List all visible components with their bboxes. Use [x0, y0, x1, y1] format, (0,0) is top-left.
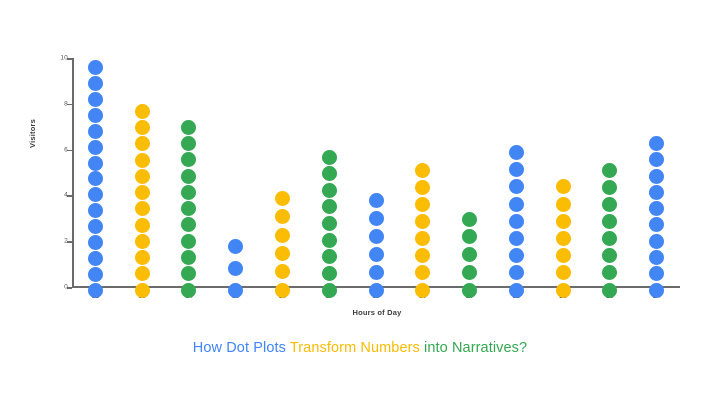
dot-marker [649, 169, 664, 184]
dot-marker [509, 179, 524, 194]
dot-marker [88, 140, 103, 155]
dot-marker [462, 229, 477, 244]
dot-marker [135, 266, 150, 281]
dot-marker [322, 199, 337, 214]
dot-marker [88, 203, 103, 218]
dot-marker [602, 197, 617, 212]
dot-marker [181, 169, 196, 184]
dot-marker [135, 218, 150, 233]
dot-marker [88, 60, 103, 75]
dot-marker [322, 233, 337, 248]
y-axis-title: Visitors [28, 119, 37, 148]
dot-marker [556, 283, 571, 298]
dot-marker [322, 183, 337, 198]
dot-marker [556, 248, 571, 263]
dot-marker [649, 185, 664, 200]
dot-marker [181, 234, 196, 249]
dot-marker [509, 231, 524, 246]
dot-marker [509, 265, 524, 280]
dot-marker [415, 214, 430, 229]
dot-marker [649, 250, 664, 265]
dot-marker [509, 162, 524, 177]
dot-marker [88, 171, 103, 186]
dot-marker [602, 231, 617, 246]
dot-marker [135, 104, 150, 119]
dot-marker [556, 231, 571, 246]
dot-marker [181, 201, 196, 216]
dot-marker [275, 283, 290, 298]
dot-marker [602, 163, 617, 178]
dot-marker [181, 136, 196, 151]
dot-marker [88, 219, 103, 234]
dot-marker [649, 201, 664, 216]
dot-marker [275, 246, 290, 261]
dot-marker [322, 266, 337, 281]
dot-marker [88, 251, 103, 266]
dot-marker [415, 180, 430, 195]
dot-marker [602, 214, 617, 229]
dot-marker [322, 166, 337, 181]
dot-marker [135, 185, 150, 200]
y-tick-label: 6 [64, 146, 68, 153]
dot-marker [509, 283, 524, 298]
chart-canvas: Visitors 0246810 12131415161718192021222… [0, 0, 720, 412]
dot-marker [369, 211, 384, 226]
dot-marker [602, 265, 617, 280]
dot-marker [415, 163, 430, 178]
dot-marker [88, 124, 103, 139]
dot-marker [602, 180, 617, 195]
dot-marker [369, 247, 384, 262]
dot-marker [369, 265, 384, 280]
dot-marker [181, 266, 196, 281]
dot-marker [135, 153, 150, 168]
dot-marker [88, 235, 103, 250]
dot-marker [415, 231, 430, 246]
caption-segment-amber: Transform Numbers [290, 340, 424, 356]
dot-marker [181, 152, 196, 167]
dot-marker [88, 108, 103, 123]
dot-marker [509, 214, 524, 229]
dot-marker [322, 249, 337, 264]
dot-marker [462, 265, 477, 280]
dot-marker [181, 283, 196, 298]
chart-caption: How Dot Plots Transform Numbers into Nar… [0, 340, 720, 356]
dot-marker [369, 283, 384, 298]
y-axis-line [72, 58, 74, 287]
dot-marker [649, 266, 664, 281]
dot-marker [181, 120, 196, 135]
dot-marker [275, 264, 290, 279]
dot-marker [228, 239, 243, 254]
dot-marker [556, 197, 571, 212]
dot-marker [181, 217, 196, 232]
plot-area: 0246810 12131415161718192021222324 Hours… [72, 50, 682, 290]
dot-marker [228, 261, 243, 276]
caption-segment-blue: How Dot Plots [193, 340, 290, 356]
dot-marker [602, 283, 617, 298]
dot-marker [462, 283, 477, 298]
dot-marker [415, 265, 430, 280]
dot-marker [228, 283, 243, 298]
y-tick-label: 2 [64, 238, 68, 245]
dot-marker [649, 136, 664, 151]
dot-marker [181, 250, 196, 265]
dot-marker [322, 283, 337, 298]
dot-marker [369, 193, 384, 208]
dot-marker [649, 283, 664, 298]
dot-marker [88, 283, 103, 298]
dot-marker [181, 185, 196, 200]
dot-marker [415, 197, 430, 212]
dot-marker [135, 250, 150, 265]
dot-marker [556, 179, 571, 194]
dot-marker [649, 234, 664, 249]
dot-marker [556, 214, 571, 229]
dot-marker [602, 248, 617, 263]
dot-marker [135, 234, 150, 249]
x-axis-title: Hours of Day [72, 308, 682, 317]
dot-marker [88, 267, 103, 282]
dot-marker [135, 136, 150, 151]
dot-marker [509, 145, 524, 160]
dot-marker [135, 169, 150, 184]
dot-marker [509, 197, 524, 212]
dot-marker [88, 187, 103, 202]
y-tick-label: 8 [64, 100, 68, 107]
caption-segment-green: into Narratives? [424, 340, 527, 356]
dot-marker [509, 248, 524, 263]
dot-marker [649, 152, 664, 167]
dot-marker [462, 247, 477, 262]
dot-marker [462, 212, 477, 227]
dot-marker [369, 229, 384, 244]
dot-marker [135, 201, 150, 216]
dot-marker [322, 150, 337, 165]
dot-marker [88, 156, 103, 171]
y-tick-label: 0 [64, 284, 68, 291]
dot-marker [556, 265, 571, 280]
y-tick-label: 4 [64, 192, 68, 199]
dot-marker [649, 217, 664, 232]
dot-marker [275, 209, 290, 224]
dot-marker [275, 228, 290, 243]
dot-marker [322, 216, 337, 231]
dot-marker [88, 92, 103, 107]
dot-marker [135, 283, 150, 298]
dot-marker [88, 76, 103, 91]
dot-marker [135, 120, 150, 135]
y-tick-label: 10 [60, 55, 68, 62]
dot-marker [415, 248, 430, 263]
dot-marker [415, 283, 430, 298]
dot-marker [275, 191, 290, 206]
